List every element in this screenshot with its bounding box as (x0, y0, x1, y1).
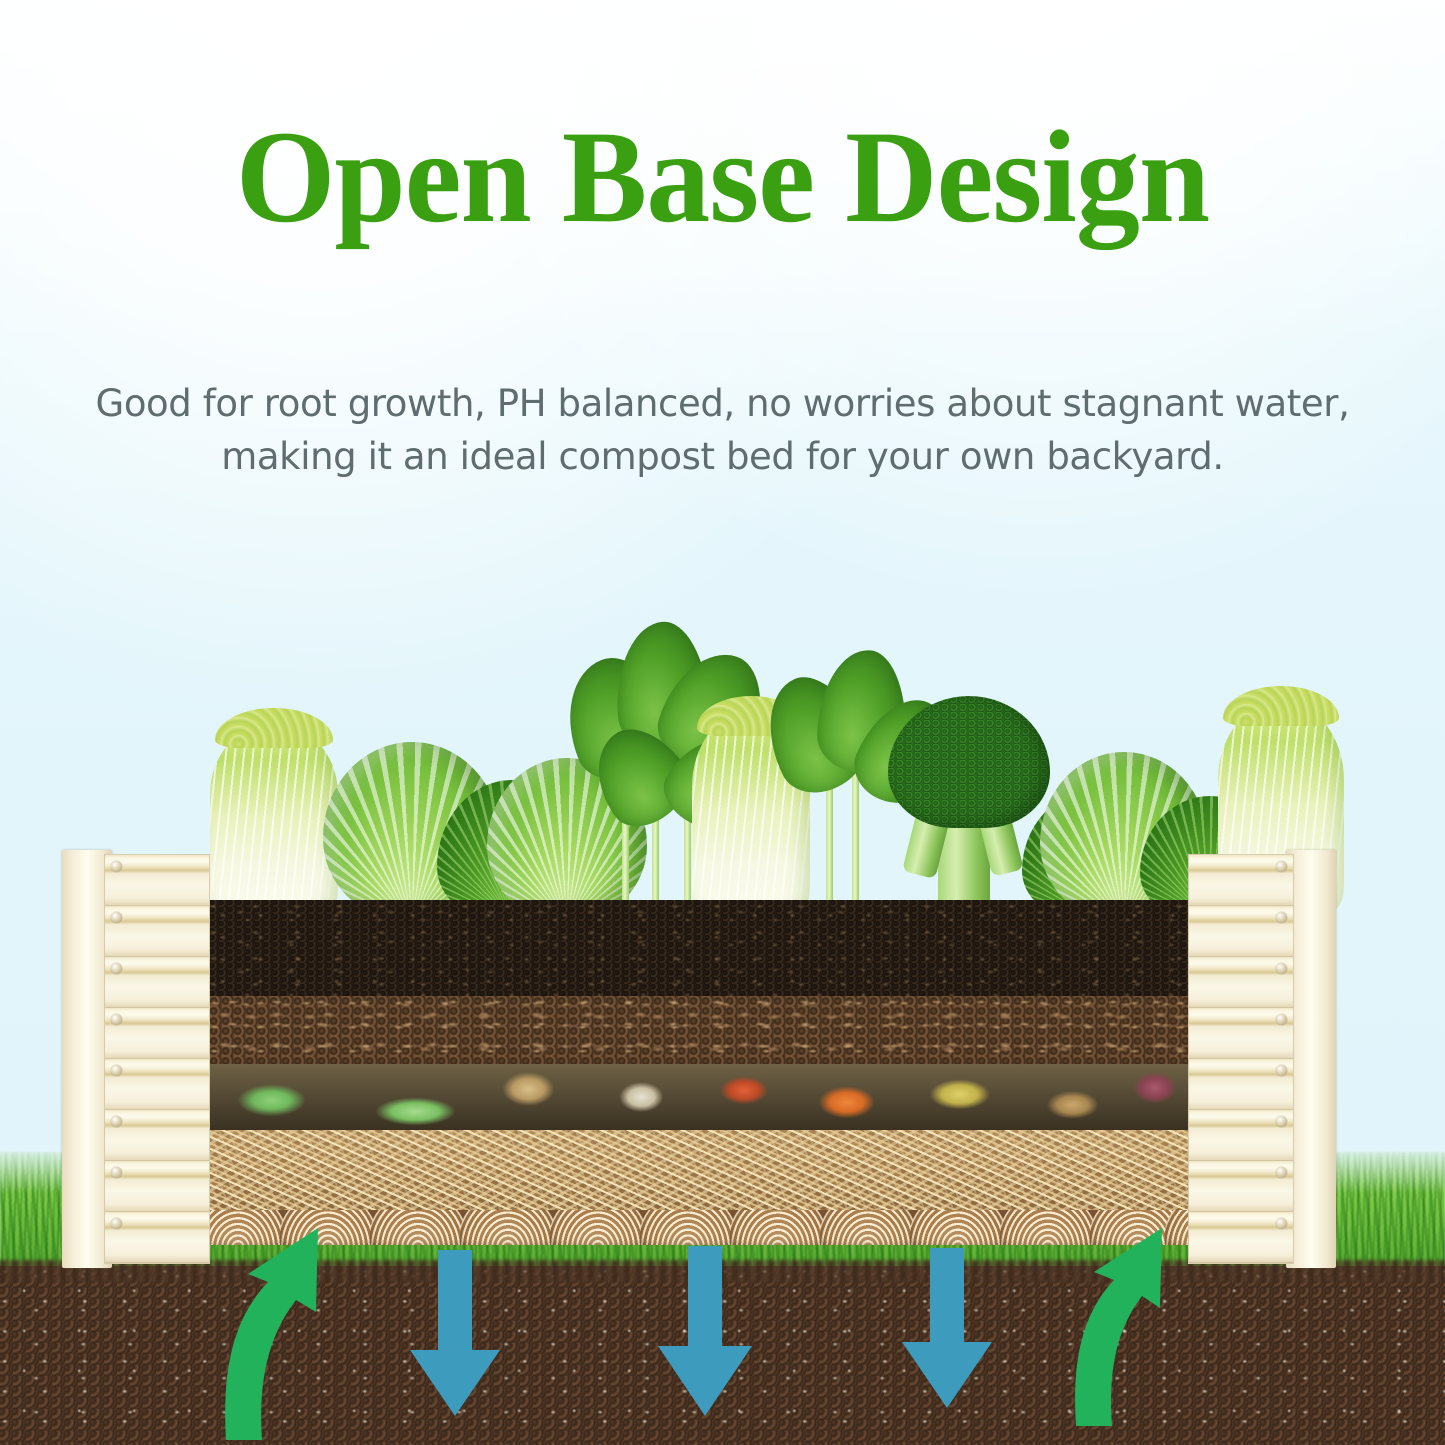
page-subtitle: Good for root growth, PH balanced, no wo… (63, 378, 1383, 483)
panel-screw (1276, 1116, 1287, 1127)
bark-mulch-layer (210, 996, 1237, 1064)
left-corner-post (62, 850, 210, 1268)
panel-screw (111, 861, 122, 872)
log (910, 1210, 1006, 1245)
napa-leaf-frill (1223, 686, 1339, 726)
log (730, 1210, 826, 1245)
subtitle-line-1: Good for root growth, PH balanced, no wo… (63, 378, 1383, 431)
subtitle-line-2: making it an ideal compost bed for your … (63, 431, 1383, 484)
garden-soil-ground (0, 1266, 1445, 1445)
log (1000, 1210, 1096, 1245)
right-post-panel (1188, 854, 1294, 1264)
log (370, 1210, 466, 1245)
panel-screw (111, 1116, 122, 1127)
napa-leaf-frill (215, 708, 333, 748)
log (640, 1210, 736, 1245)
panel-screw (111, 1218, 122, 1229)
log (820, 1210, 916, 1245)
broccoli-head (888, 696, 1050, 828)
log (280, 1210, 376, 1245)
panel-screw (111, 912, 122, 923)
right-corner-post (1188, 850, 1336, 1268)
panel-screw (1276, 963, 1287, 974)
panel-screw (111, 1167, 122, 1178)
left-post-panel (104, 854, 210, 1264)
straw-layer (210, 1130, 1237, 1210)
panel-screw (111, 1065, 122, 1076)
compost-soil-layer (210, 900, 1237, 996)
napa-cabbage-1 (210, 724, 338, 920)
panel-screw (1276, 1218, 1287, 1229)
panel-screw (1276, 912, 1287, 923)
open-base-design-infographic: Open Base Design Good for root growth, P… (0, 0, 1445, 1445)
bok-choy-stem (852, 758, 859, 920)
log-base-layer (210, 1210, 1237, 1245)
log (460, 1210, 556, 1245)
bok-choy-stem (826, 770, 833, 920)
page-title: Open Base Design (22, 108, 1424, 247)
garden-bed-scene (0, 560, 1445, 1445)
panel-screw (1276, 1065, 1287, 1076)
panel-screw (1276, 1014, 1287, 1025)
log (550, 1210, 646, 1245)
food-scraps-layer (210, 1064, 1237, 1130)
panel-screw (111, 963, 122, 974)
panel-screw (111, 1014, 122, 1025)
panel-screw (1276, 861, 1287, 872)
bed-cross-section (210, 900, 1237, 1245)
log (210, 1210, 286, 1245)
panel-screw (1276, 1167, 1287, 1178)
